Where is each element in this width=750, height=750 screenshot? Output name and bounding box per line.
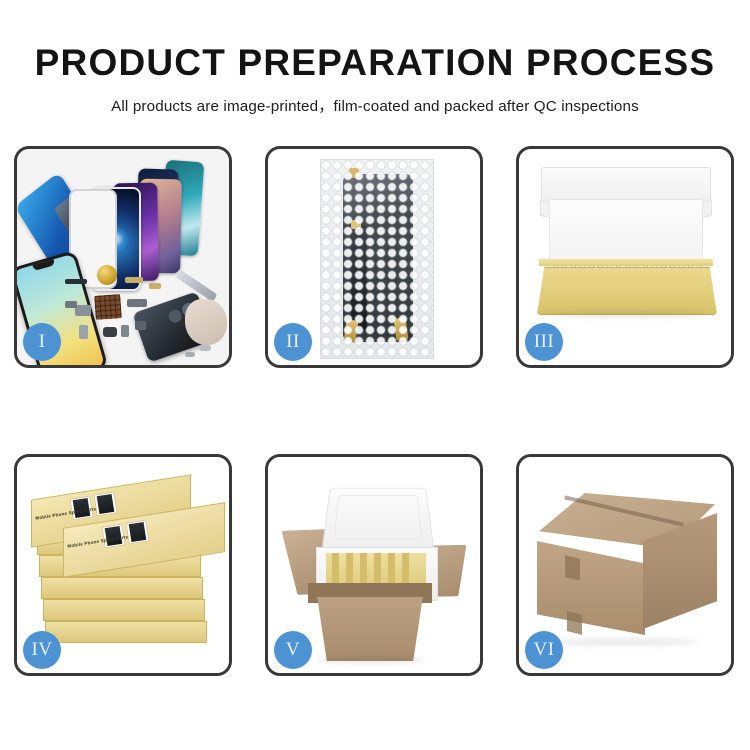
small-part — [135, 321, 146, 330]
step-badge-3: III — [525, 323, 563, 361]
box-lip — [539, 259, 713, 266]
bubble-wrap-bag — [320, 159, 434, 359]
small-part — [121, 325, 129, 337]
stacked-box — [45, 621, 207, 643]
small-part — [79, 325, 88, 339]
box-window — [93, 491, 117, 516]
process-step-4[interactable]: Mobile Phone Spare Parts Mobile Phone Sp… — [14, 454, 232, 676]
step-badge-6: VI — [525, 631, 563, 669]
stacked-box — [41, 577, 203, 599]
bubble-texture — [321, 160, 433, 358]
small-part — [65, 301, 77, 308]
process-step-5[interactable]: V — [265, 454, 483, 676]
step-badge-1: I — [23, 323, 61, 361]
carton-left-face — [537, 541, 645, 635]
process-step-3[interactable]: III — [516, 146, 734, 368]
small-part — [127, 299, 147, 307]
step-badge-5: V — [274, 631, 312, 669]
process-step-1[interactable]: I — [14, 146, 232, 368]
drop-shadow — [541, 311, 711, 317]
process-step-2[interactable]: II — [265, 146, 483, 368]
small-part — [65, 279, 87, 284]
stacked-box — [43, 599, 205, 621]
header: PRODUCT PREPARATION PROCESS All products… — [0, 0, 750, 116]
small-part — [125, 277, 143, 283]
chip-grid-part — [94, 294, 122, 320]
process-step-6[interactable]: VI — [516, 454, 734, 676]
infographic-page: PRODUCT PREPARATION PROCESS All products… — [0, 0, 750, 750]
hand — [185, 299, 227, 345]
box-window — [125, 519, 149, 544]
foam-cooler-lid — [322, 488, 435, 551]
page-title: PRODUCT PREPARATION PROCESS — [0, 0, 750, 83]
carton-tape — [567, 611, 582, 635]
small-part — [149, 283, 161, 289]
drop-shadow — [316, 657, 426, 663]
small-part — [75, 305, 91, 316]
carton-front — [310, 597, 430, 661]
process-grid: I II — [14, 146, 736, 690]
page-subtitle: All products are image-printed，film-coat… — [0, 83, 750, 116]
carton-tape — [565, 555, 580, 581]
step-badge-2: II — [274, 323, 312, 361]
small-part — [103, 327, 117, 337]
yellow-box-base — [537, 267, 717, 315]
screw-part — [199, 345, 211, 351]
drop-shadow — [549, 639, 699, 645]
gold-coil-part — [97, 265, 117, 285]
screw-part — [185, 352, 195, 357]
step-badge-4: IV — [23, 631, 61, 669]
